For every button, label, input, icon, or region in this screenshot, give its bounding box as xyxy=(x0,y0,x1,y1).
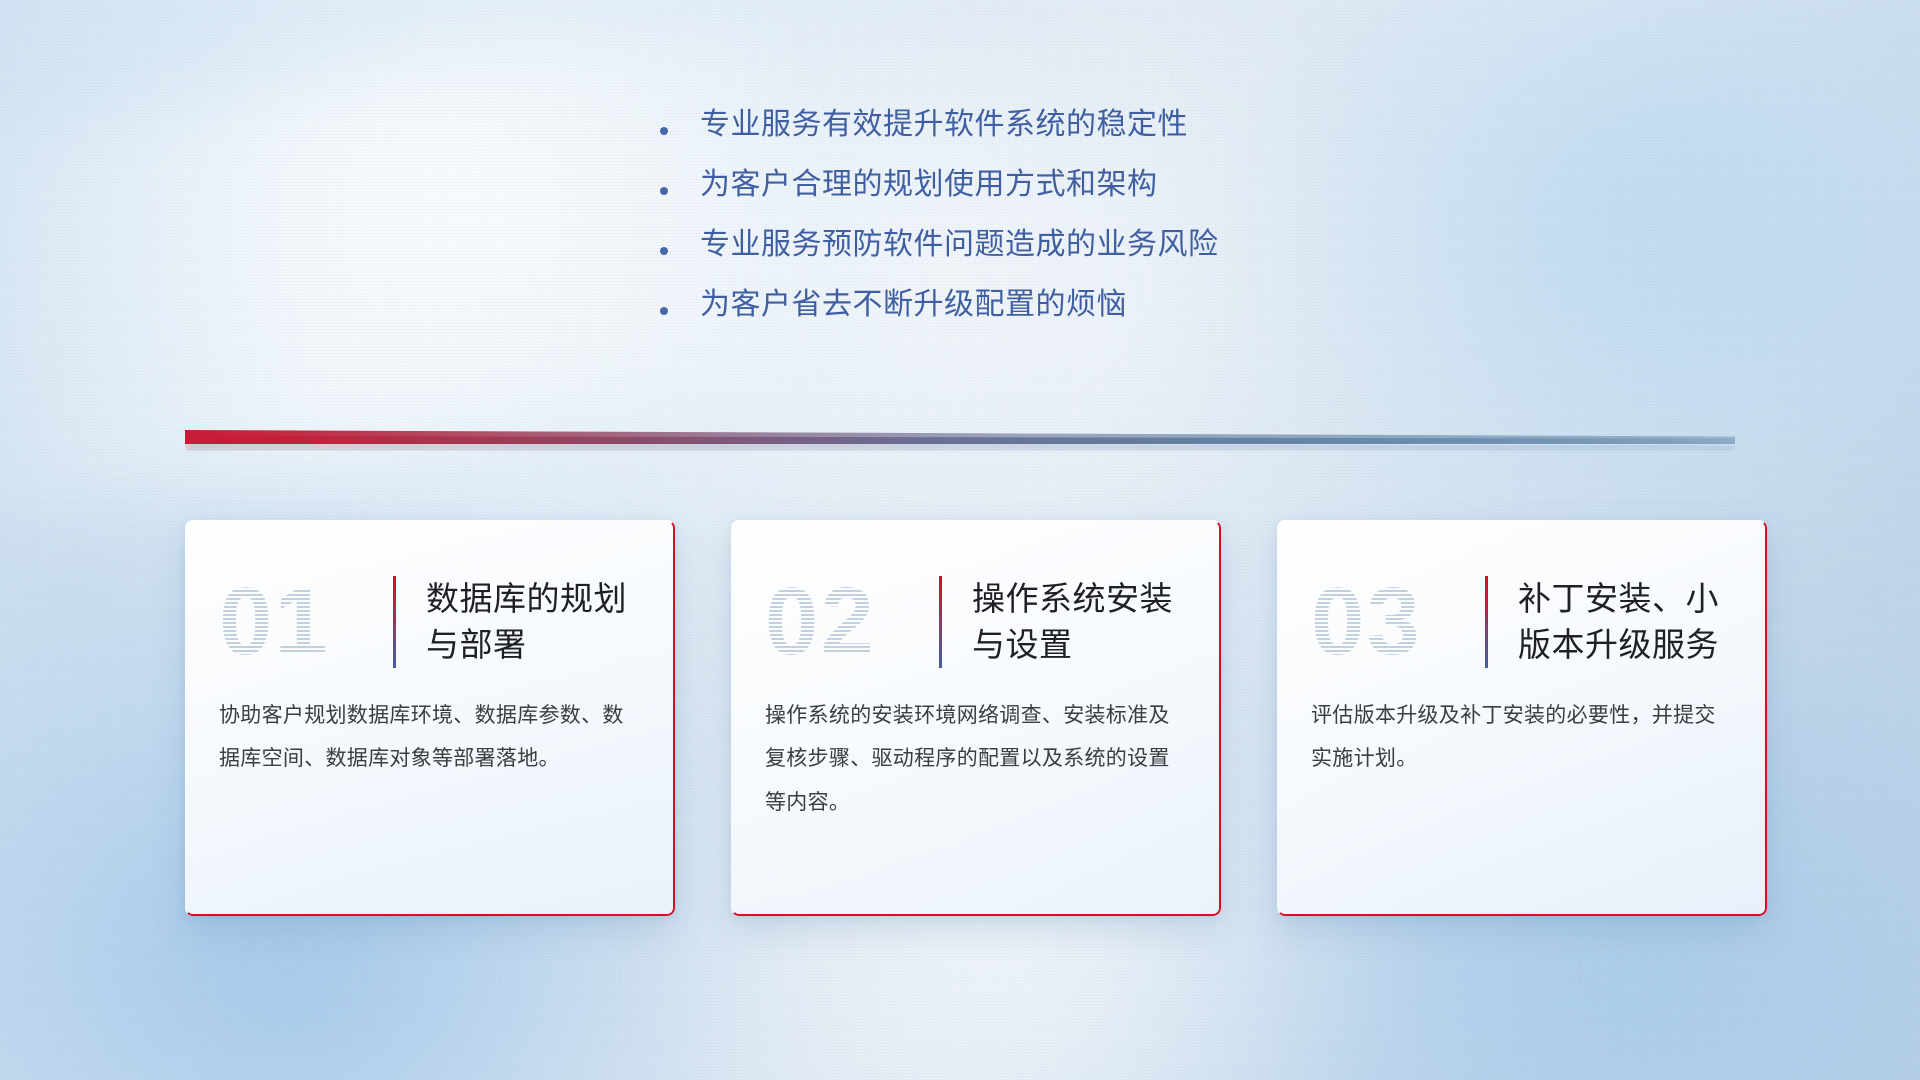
card-body-text: 操作系统的安装环境网络调查、安装标准及复核步骤、驱动程序的配置以及系统的设置等内… xyxy=(731,688,1221,824)
card-title: 数据库的规划与部署 xyxy=(426,576,645,667)
card-top-highlight xyxy=(199,520,661,521)
service-cards: 01 数据库的规划与部署 协助客户规划数据库环境、数据库参数、数据库空间、数据库… xyxy=(185,520,1767,916)
bullet-text: 为客户合理的规划使用方式和架构 xyxy=(700,170,1158,200)
bullet-dot-icon xyxy=(660,247,668,255)
card-header: 02 操作系统安装与设置 xyxy=(731,520,1221,688)
card-title: 补丁安装、小版本升级服务 xyxy=(1518,576,1737,667)
card-header: 03 补丁安装、小版本升级服务 xyxy=(1277,520,1767,688)
list-item: 专业服务预防软件问题造成的业务风险 xyxy=(660,230,1219,260)
card-header: 01 数据库的规划与部署 xyxy=(185,520,675,688)
card-accent-bar xyxy=(393,576,396,668)
bullet-text: 为客户省去不断升级配置的烦恼 xyxy=(700,290,1127,320)
service-card-02[interactable]: 02 操作系统安装与设置 操作系统的安装环境网络调查、安装标准及复核步骤、驱动程… xyxy=(731,520,1221,916)
card-title: 操作系统安装与设置 xyxy=(972,576,1191,667)
benefits-bullet-list: 专业服务有效提升软件系统的稳定性 为客户合理的规划使用方式和架构 专业服务预防软… xyxy=(660,110,1219,320)
bullet-dot-icon xyxy=(660,127,668,135)
service-card-03[interactable]: 03 补丁安装、小版本升级服务 评估版本升级及补丁安装的必要性，并提交实施计划。 xyxy=(1277,520,1767,916)
card-accent-bar xyxy=(1485,576,1488,668)
bullet-text: 专业服务有效提升软件系统的稳定性 xyxy=(700,110,1188,140)
bullet-dot-icon xyxy=(660,187,668,195)
card-number: 02 xyxy=(765,574,933,670)
list-item: 专业服务有效提升软件系统的稳定性 xyxy=(660,110,1219,140)
list-item: 为客户合理的规划使用方式和架构 xyxy=(660,170,1219,200)
card-accent-bar xyxy=(939,576,942,668)
list-item: 为客户省去不断升级配置的烦恼 xyxy=(660,290,1219,320)
card-body-text: 协助客户规划数据库环境、数据库参数、数据库空间、数据库对象等部署落地。 xyxy=(185,688,675,781)
section-divider xyxy=(185,430,1735,448)
bullet-dot-icon xyxy=(660,307,668,315)
bullet-text: 专业服务预防软件问题造成的业务风险 xyxy=(700,230,1219,260)
card-number: 01 xyxy=(219,574,387,670)
card-top-highlight xyxy=(745,520,1207,521)
service-card-01[interactable]: 01 数据库的规划与部署 协助客户规划数据库环境、数据库参数、数据库空间、数据库… xyxy=(185,520,675,916)
card-number: 03 xyxy=(1311,574,1479,670)
card-top-highlight xyxy=(1291,520,1753,521)
card-body-text: 评估版本升级及补丁安装的必要性，并提交实施计划。 xyxy=(1277,688,1767,781)
